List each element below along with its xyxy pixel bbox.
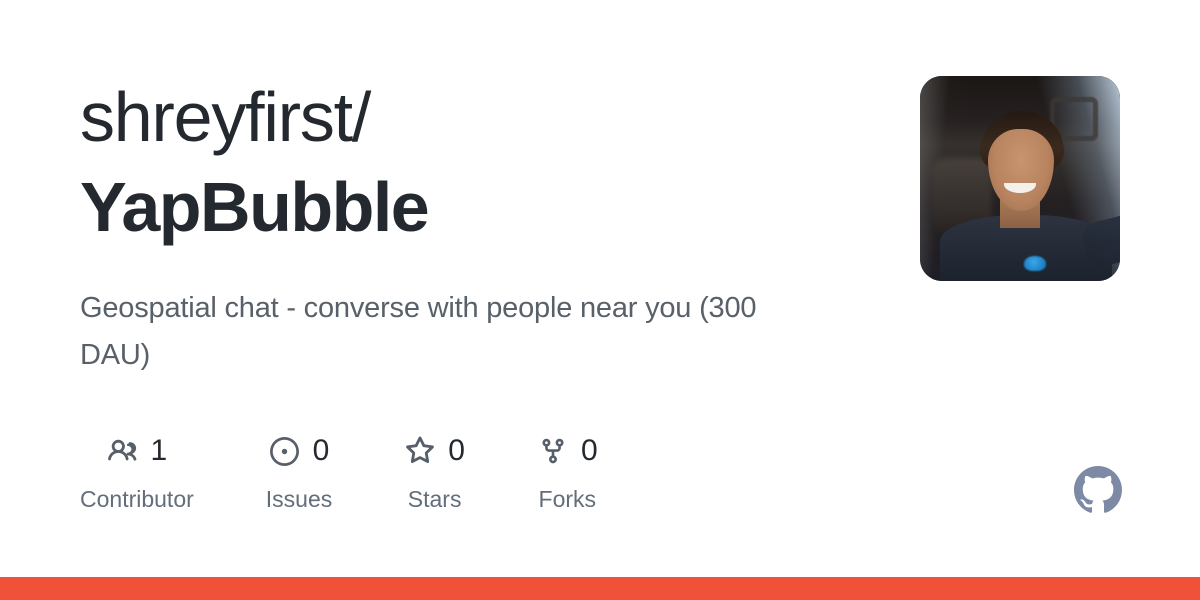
avatar [920,76,1120,281]
avatar-photo [920,76,1120,281]
avatar-shirt-logo-detail [1024,256,1046,270]
stat-label: Forks [539,471,597,511]
stat-top-row: 1 [107,431,168,471]
stat-value: 1 [151,436,168,466]
repo-content: shreyfirst/ YapBubble Geospatial chat - … [80,72,880,511]
repo-description: Geospatial chat - converse with people n… [80,252,820,379]
stat-contributors: 1 Contributor [80,431,194,511]
stat-label: Stars [408,471,462,511]
avatar-face-detail [988,129,1054,211]
repo-forked-icon [537,435,569,467]
repo-social-preview-card: shreyfirst/ YapBubble Geospatial chat - … [0,0,1200,600]
stat-top-row: 0 [404,431,465,471]
stat-top-row: 0 [269,431,330,471]
stat-label: Issues [266,471,332,511]
stat-issues: 0 Issues [266,431,332,511]
repo-name: YapBubble [80,162,880,252]
stat-value: 0 [313,436,330,466]
issue-opened-icon [269,435,301,467]
repo-stats: 1 Contributor 0 Issues [80,379,880,511]
stat-top-row: 0 [537,431,598,471]
language-color-bar [0,577,1200,600]
page-title: shreyfirst/ YapBubble [80,72,880,252]
people-icon [107,435,139,467]
stat-value: 0 [448,436,465,466]
stat-stars: 0 Stars [404,431,465,511]
github-logo-icon [1074,466,1122,514]
stat-label: Contributor [80,471,194,511]
language-segment [0,577,1200,600]
star-icon [404,435,436,467]
stat-forks: 0 Forks [537,431,598,511]
repo-owner: shreyfirst/ [80,78,370,156]
stat-value: 0 [581,436,598,466]
